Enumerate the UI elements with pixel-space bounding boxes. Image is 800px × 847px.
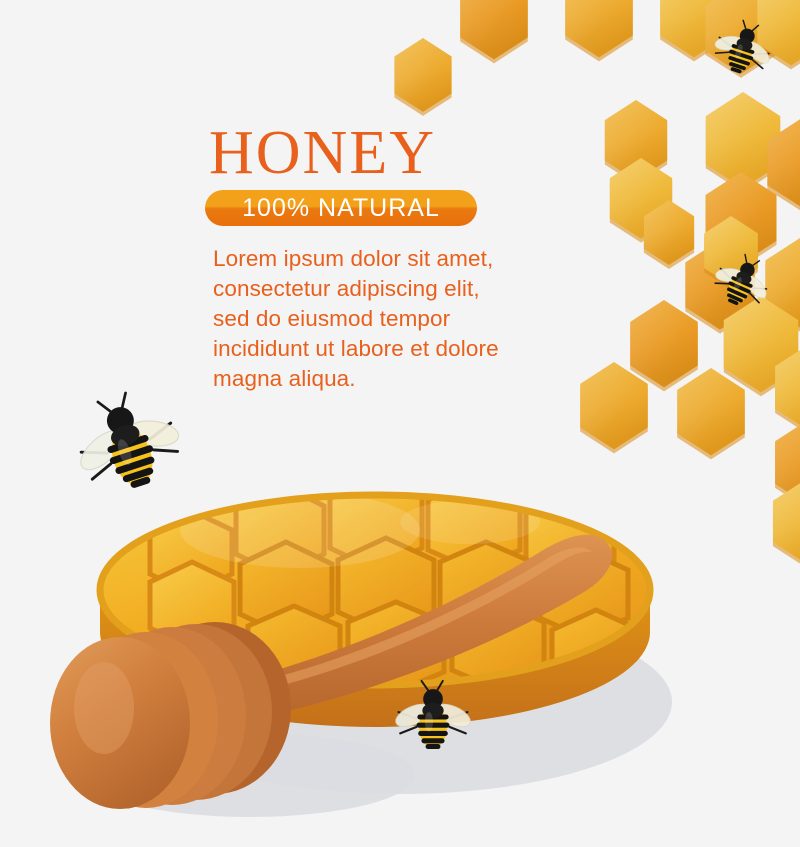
bee-icon bbox=[392, 676, 474, 758]
hexagon-icon bbox=[767, 118, 800, 212]
body-line: incididunt ut labore et dolore bbox=[213, 334, 545, 364]
hexagon-icon bbox=[644, 200, 694, 269]
page-title: HONEY bbox=[209, 122, 545, 184]
hexagon-icon bbox=[460, 0, 528, 63]
body-line: magna aliqua. bbox=[213, 364, 545, 394]
hexagon-icon bbox=[775, 345, 800, 434]
body-line: consectetur adipiscing elit, bbox=[213, 274, 545, 304]
hexagon-icon bbox=[677, 368, 745, 459]
hexagon-icon bbox=[605, 100, 667, 185]
body-line: sed do eiusmod tempor bbox=[213, 304, 545, 334]
hexagon-icon bbox=[630, 300, 698, 391]
hexagon-icon bbox=[394, 38, 451, 116]
honey-illustration bbox=[0, 470, 800, 847]
hexagon-icon bbox=[580, 362, 648, 453]
bee-icon bbox=[704, 10, 782, 88]
honey-poster: HONEY 100% NATURAL Lorem ipsum dolor sit… bbox=[0, 0, 800, 847]
body-copy: Lorem ipsum dolor sit amet, consectetur … bbox=[213, 244, 545, 394]
hexagon-icon bbox=[706, 92, 780, 192]
natural-badge: 100% NATURAL bbox=[205, 190, 477, 226]
hexagon-icon bbox=[565, 0, 633, 61]
hexagon-icon bbox=[610, 158, 672, 243]
dipper-knob bbox=[50, 622, 291, 809]
illustration-svg bbox=[0, 470, 800, 847]
headline-block: HONEY 100% NATURAL Lorem ipsum dolor sit… bbox=[205, 122, 545, 394]
body-line: Lorem ipsum dolor sit amet, bbox=[213, 244, 545, 274]
bee-icon bbox=[702, 242, 781, 321]
